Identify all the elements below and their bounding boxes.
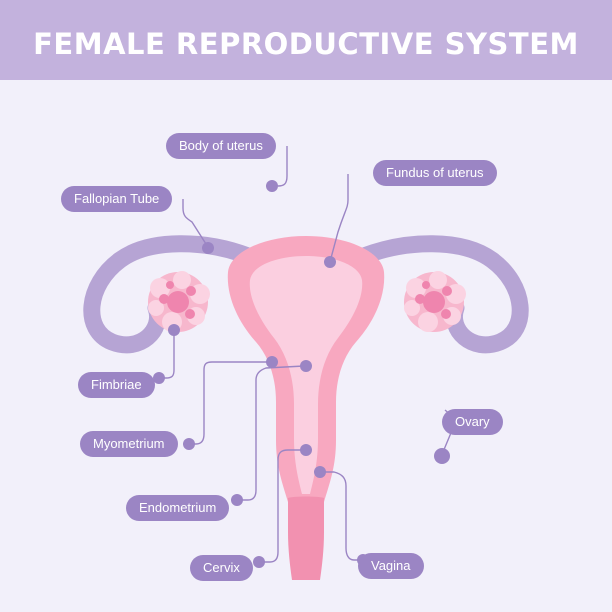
label-fallopian-tube[interactable]: Fallopian Tube [61, 186, 172, 212]
label-endometrium[interactable]: Endometrium [126, 495, 229, 521]
ovary-left-dot [186, 286, 196, 296]
page-title: FEMALE REPRODUCTIVE SYSTEM [0, 27, 612, 61]
ovary-right-dot [415, 294, 425, 304]
label-fimbriae[interactable]: Fimbriae [78, 372, 155, 398]
dot-endometrium-label-anchor [231, 494, 243, 506]
ovary-left-dot [185, 309, 195, 319]
dot-fimbriae-label-anchor [153, 372, 165, 384]
dot-vagina [314, 466, 326, 478]
dot-fimbriae [168, 324, 180, 336]
ovary-right-core [423, 291, 445, 313]
dot-myometrium [266, 356, 278, 368]
dot-ovary [434, 448, 450, 464]
ovary-right-follicle [418, 312, 438, 332]
anatomy-illustration [0, 80, 612, 612]
leader-fimbriae [158, 334, 174, 378]
label-cervix[interactable]: Cervix [190, 555, 253, 581]
ovary-right-group [404, 271, 466, 332]
ovary-right-dot [422, 281, 430, 289]
label-ovary[interactable]: Ovary [442, 409, 503, 435]
label-body-of-uterus[interactable]: Body of uterus [166, 133, 276, 159]
ovary-right-follicle [429, 271, 447, 289]
ovary-left-dot [159, 294, 169, 304]
label-myometrium[interactable]: Myometrium [80, 431, 178, 457]
dot-fundus-of-uterus [324, 256, 336, 268]
ovary-right-dot [442, 286, 452, 296]
dot-fallopian-tube [202, 242, 214, 254]
ovary-left-group [148, 271, 210, 332]
dot-cervix-label-anchor [253, 556, 265, 568]
infographic-root: FEMALE REPRODUCTIVE SYSTEM [0, 0, 612, 612]
diagram-stage: Body of uterus Fundus of uterus Fallopia… [0, 80, 612, 612]
ovary-left-follicle [173, 271, 191, 289]
dot-body-of-uterus [266, 180, 278, 192]
dot-myometrium-label-anchor [183, 438, 195, 450]
ovary-right-dot [441, 309, 451, 319]
dot-cervix [300, 444, 312, 456]
label-vagina[interactable]: Vagina [358, 553, 424, 579]
uterus-endometrium [250, 256, 362, 494]
ovary-left-core [167, 291, 189, 313]
label-fundus-of-uterus[interactable]: Fundus of uterus [373, 160, 497, 186]
ovary-left-dot [166, 281, 174, 289]
dot-endometrium [300, 360, 312, 372]
leader-body-of-uterus [278, 146, 287, 186]
cervix-and-vagina [288, 497, 324, 581]
